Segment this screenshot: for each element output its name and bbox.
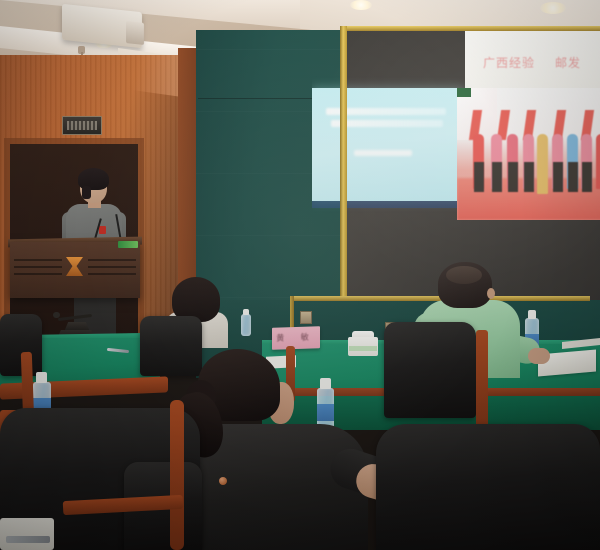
pink-name-card: 黄 敏 <box>272 326 320 350</box>
banner-text-left: 广西经验 <box>483 54 535 71</box>
photo-person-legs <box>492 162 502 192</box>
photo-person-legs <box>582 162 592 192</box>
photo-corner-band <box>457 88 471 97</box>
water-bottle-cap <box>320 378 331 389</box>
slide-title-panel <box>312 88 464 201</box>
slide-subtitle <box>354 150 412 156</box>
photo-person <box>596 134 600 189</box>
water-bottle-label <box>317 404 334 421</box>
conference-chair[interactable] <box>140 316 202 376</box>
wall-outlet-icon <box>300 311 312 324</box>
ceiling-light-icon <box>540 2 566 14</box>
slide-title-line-2 <box>331 120 443 127</box>
paper-stack <box>0 518 54 550</box>
ceiling-light-icon <box>350 0 372 10</box>
photo-person-legs <box>474 162 484 192</box>
slide-accent-bar <box>312 201 464 208</box>
attendee-right-hair-highlight <box>446 266 482 284</box>
podium-groove <box>88 259 136 261</box>
water-bottle-cap <box>528 310 536 319</box>
projector-lens <box>126 21 144 45</box>
water-bottle <box>241 314 251 336</box>
photo-person <box>537 134 548 194</box>
podium-green-tag <box>118 241 138 248</box>
podium-groove <box>14 259 62 261</box>
photo-person-legs <box>508 162 518 192</box>
name-card-text: 黄 敏 <box>272 331 320 344</box>
gold-trim-top <box>340 26 600 31</box>
speaker-hair-bun <box>82 186 91 199</box>
projection-screen: 广西经验 邮发 <box>312 28 600 296</box>
podium-groove <box>88 273 136 275</box>
wall-plaque-text <box>67 121 97 130</box>
speaker-badge <box>99 226 106 234</box>
chair-wood-frame <box>170 400 184 550</box>
slide-group-photo <box>457 88 600 220</box>
tissue-box-band <box>349 346 377 351</box>
water-bottle-cap <box>36 372 47 383</box>
conference-chair[interactable] <box>384 322 476 418</box>
conference-room-photo: 广西经验 邮发 <box>0 0 600 550</box>
presentation-banner: 广西经验 邮发 <box>465 28 600 90</box>
podium-groove <box>14 273 62 275</box>
banner-text-right: 邮发 <box>555 54 581 71</box>
podium-groove <box>14 266 62 268</box>
photo-person-legs <box>524 162 534 192</box>
gold-trim-vertical <box>340 26 347 336</box>
wall-plaque <box>62 116 102 135</box>
microphone-head <box>53 312 60 318</box>
attendee-right-ear <box>487 288 495 299</box>
photo-person-legs <box>568 162 578 192</box>
attendee-right-hand <box>528 348 550 364</box>
pen <box>6 536 50 543</box>
photo-person-legs <box>553 162 563 192</box>
conference-chair[interactable] <box>376 424 600 550</box>
gold-frame-left <box>290 296 294 330</box>
podium-groove <box>88 266 136 268</box>
chair-knob <box>219 477 227 485</box>
water-bottle-cap <box>243 309 249 315</box>
